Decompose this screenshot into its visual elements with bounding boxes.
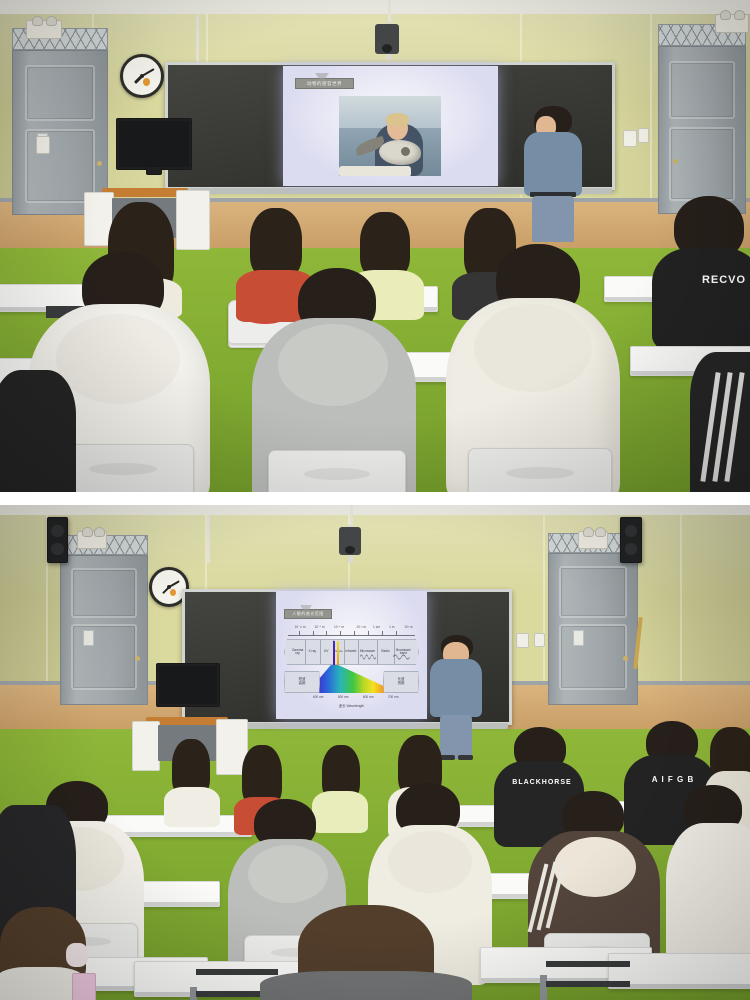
clock-bell-icon bbox=[170, 589, 176, 596]
classroom-photo-bottom: 人眼的感光范围 10⁻¹² m 10⁻⁸ m 10⁻⁶ m bbox=[0, 505, 750, 1000]
ceiling-conduit bbox=[196, 14, 199, 66]
student bbox=[0, 907, 118, 1000]
wave-squiggle-icon bbox=[393, 653, 411, 661]
lectern-body-left bbox=[132, 721, 160, 771]
spectrum-tick-label: 10⁻⁸ m bbox=[314, 625, 324, 629]
projection-screen: 动物的感官世界 bbox=[283, 66, 498, 186]
spectrum-right-label: 长波 低频 bbox=[384, 672, 418, 692]
spectrum-band: Infrared bbox=[344, 640, 360, 664]
teacher-shoe bbox=[458, 755, 473, 760]
slide-person-hair bbox=[386, 113, 409, 126]
wall-clock bbox=[120, 54, 164, 98]
hoodie-hood bbox=[278, 324, 388, 406]
wall-plate bbox=[36, 136, 50, 154]
photo-gap bbox=[0, 492, 750, 505]
door-right[interactable] bbox=[658, 46, 746, 214]
wave-squiggle-icon bbox=[360, 653, 376, 661]
spectrum-tick-label: 10⁻² m bbox=[356, 625, 366, 629]
visible-marker bbox=[333, 641, 335, 665]
wall-speaker-left bbox=[47, 517, 68, 563]
visible-marker bbox=[337, 641, 339, 665]
student-body bbox=[164, 787, 220, 827]
spectrum-tick-label: 10⁻⁶ m bbox=[334, 625, 344, 629]
spectrum-tick-label: 10⁻¹² m bbox=[295, 625, 306, 629]
wall-switch[interactable] bbox=[638, 128, 649, 143]
clock-bell-icon bbox=[143, 78, 150, 86]
desk-leg bbox=[546, 981, 630, 987]
student bbox=[0, 370, 72, 492]
emergency-light-right bbox=[715, 14, 749, 33]
visible-tick-label: 700 nm bbox=[388, 695, 399, 699]
student bbox=[250, 905, 480, 1000]
wall-switch[interactable] bbox=[534, 633, 545, 647]
photo-collage: 动物的感官世界 bbox=[0, 0, 750, 1000]
teacher-sweater bbox=[430, 659, 482, 717]
ceiling-conduit bbox=[350, 505, 353, 527]
face-mask bbox=[66, 943, 88, 967]
student-body bbox=[652, 248, 750, 350]
spectrum-tick-label: 10³ m bbox=[404, 625, 412, 629]
banner-arrow-icon bbox=[300, 605, 312, 614]
wall-seam bbox=[650, 14, 652, 224]
projector bbox=[375, 24, 399, 54]
desk-leg bbox=[546, 961, 630, 967]
classroom-scene-top: 动物的感官世界 bbox=[0, 0, 750, 492]
spectrum-left-cap: 短波 高频 bbox=[284, 671, 320, 693]
visible-tick-label: 500 nm bbox=[338, 695, 349, 699]
jacket-hood bbox=[56, 314, 180, 404]
emergency-light-left bbox=[77, 531, 107, 549]
teacher-sweater bbox=[524, 132, 582, 196]
student: RECVO bbox=[652, 196, 750, 346]
smartphone[interactable] bbox=[72, 973, 96, 1000]
slide-skull-eye bbox=[401, 147, 410, 156]
spectrum-band-bar: Gamma ray X ray UV Visible Infrared Micr… bbox=[284, 639, 419, 665]
classroom-photo-top: 动物的感官世界 bbox=[0, 0, 750, 492]
chair[interactable] bbox=[468, 448, 612, 492]
classroom-scene-bottom: 人眼的感光范围 10⁻¹² m 10⁻⁸ m 10⁻⁶ m bbox=[0, 505, 750, 1000]
door-right[interactable] bbox=[548, 553, 638, 705]
student-body bbox=[260, 971, 472, 1000]
slide-boat-edge bbox=[339, 166, 411, 176]
spectrum-left-label: 短波 高频 bbox=[285, 672, 319, 692]
slide-image bbox=[339, 96, 441, 176]
door-left[interactable] bbox=[60, 555, 148, 705]
chair[interactable] bbox=[268, 450, 406, 492]
wall-speaker-right bbox=[620, 517, 642, 563]
jacket-hood bbox=[554, 837, 636, 897]
student-body bbox=[0, 370, 76, 492]
monitor-stand bbox=[146, 166, 162, 175]
visible-tick-label: 600 nm bbox=[363, 695, 374, 699]
jacket-text: BLACKHORSE bbox=[512, 779, 572, 786]
projection-screen: 人眼的感光范围 10⁻¹² m 10⁻⁸ m 10⁻⁶ m bbox=[276, 591, 427, 719]
lectern-monitor[interactable] bbox=[156, 663, 220, 707]
desk-frame bbox=[540, 975, 547, 1000]
emergency-light-left bbox=[26, 20, 62, 39]
teacher-jeans bbox=[532, 196, 574, 242]
lectern-monitor[interactable] bbox=[116, 118, 192, 170]
jacket-text: A I F G B bbox=[638, 775, 708, 784]
jacket-text: RECVO bbox=[686, 274, 750, 286]
ceiling-conduit bbox=[207, 515, 210, 563]
spectrum-band: UV bbox=[320, 640, 334, 664]
spectrum-band: X ray bbox=[305, 640, 321, 664]
wall-switch[interactable] bbox=[516, 633, 529, 648]
jacket-hood bbox=[474, 304, 592, 392]
hoodie-hood bbox=[248, 845, 328, 903]
teacher bbox=[520, 106, 586, 242]
spectrum-tick-label: 1 m bbox=[389, 625, 394, 629]
clock-center-pin bbox=[167, 585, 171, 589]
emergency-light-right bbox=[578, 531, 608, 549]
jacket-hood bbox=[388, 831, 472, 893]
spectrum-chart: 10⁻¹² m 10⁻⁸ m 10⁻⁶ m 10⁻² m 1 cm 1 m 10… bbox=[282, 625, 421, 713]
clock-center-pin bbox=[140, 74, 144, 78]
banner-arrow-icon bbox=[315, 73, 329, 83]
projector bbox=[339, 527, 361, 555]
spectrum-right-cap: 长波 低频 bbox=[383, 671, 419, 693]
student bbox=[666, 785, 750, 975]
spectrum-xlabel: 波长 Wavelength bbox=[339, 703, 365, 708]
spectrum-band: Gamma ray bbox=[290, 640, 306, 664]
student bbox=[690, 352, 750, 492]
slide-skull bbox=[379, 140, 421, 165]
wall-switch[interactable] bbox=[623, 130, 637, 147]
visible-tick-label: 400 nm bbox=[313, 695, 324, 699]
student bbox=[164, 739, 220, 825]
spectrum-tick-label: 1 cm bbox=[373, 625, 380, 629]
